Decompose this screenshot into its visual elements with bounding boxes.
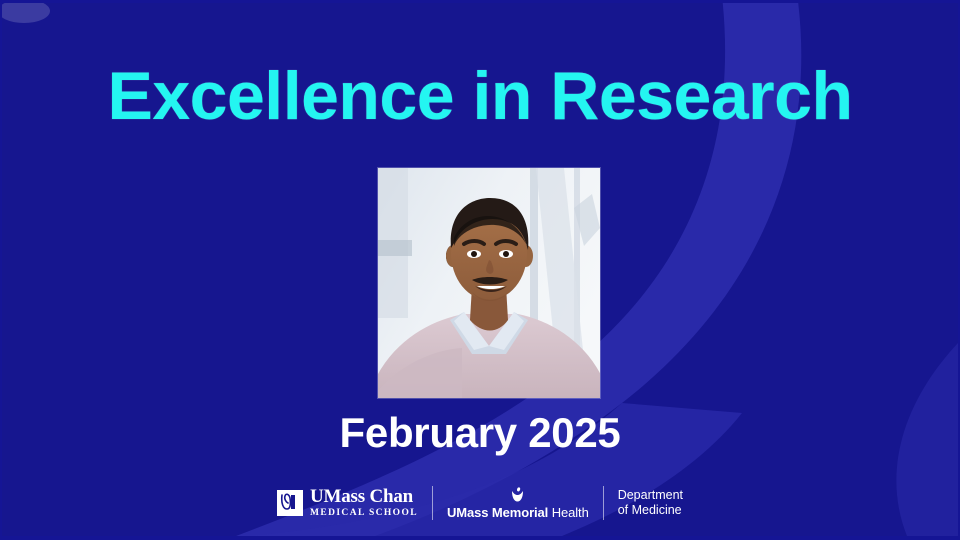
umass-memorial-health-logo: UMass Memorial Health bbox=[433, 481, 603, 525]
department-line-2: of Medicine bbox=[618, 503, 683, 518]
umass-chan-subtitle: MEDICAL SCHOOL bbox=[310, 509, 418, 519]
umass-chan-u-monogram-icon bbox=[277, 490, 303, 516]
portrait-photo bbox=[378, 168, 600, 398]
umass-memorial-bold-text: UMass Memorial bbox=[447, 505, 548, 520]
umass-memorial-tulip-icon bbox=[509, 487, 526, 504]
umass-chan-logo: UMass Chan MEDICAL SCHOOL bbox=[263, 481, 432, 525]
department-of-medicine-logo: Department of Medicine bbox=[604, 481, 697, 525]
umass-chan-name: UMass Chan bbox=[310, 487, 418, 507]
slide-canvas: Excellence in Research bbox=[2, 3, 958, 536]
slide-title: Excellence in Research bbox=[2, 61, 958, 132]
umass-memorial-wordmark: UMass Memorial Health bbox=[447, 506, 589, 519]
department-line-1: Department bbox=[618, 488, 683, 503]
umass-memorial-light-text: Health bbox=[552, 505, 589, 520]
slide-date: February 2025 bbox=[2, 409, 958, 457]
presentation-slide: Excellence in Research bbox=[0, 0, 960, 540]
logo-bar: UMass Chan MEDICAL SCHOOL UM bbox=[2, 481, 958, 525]
